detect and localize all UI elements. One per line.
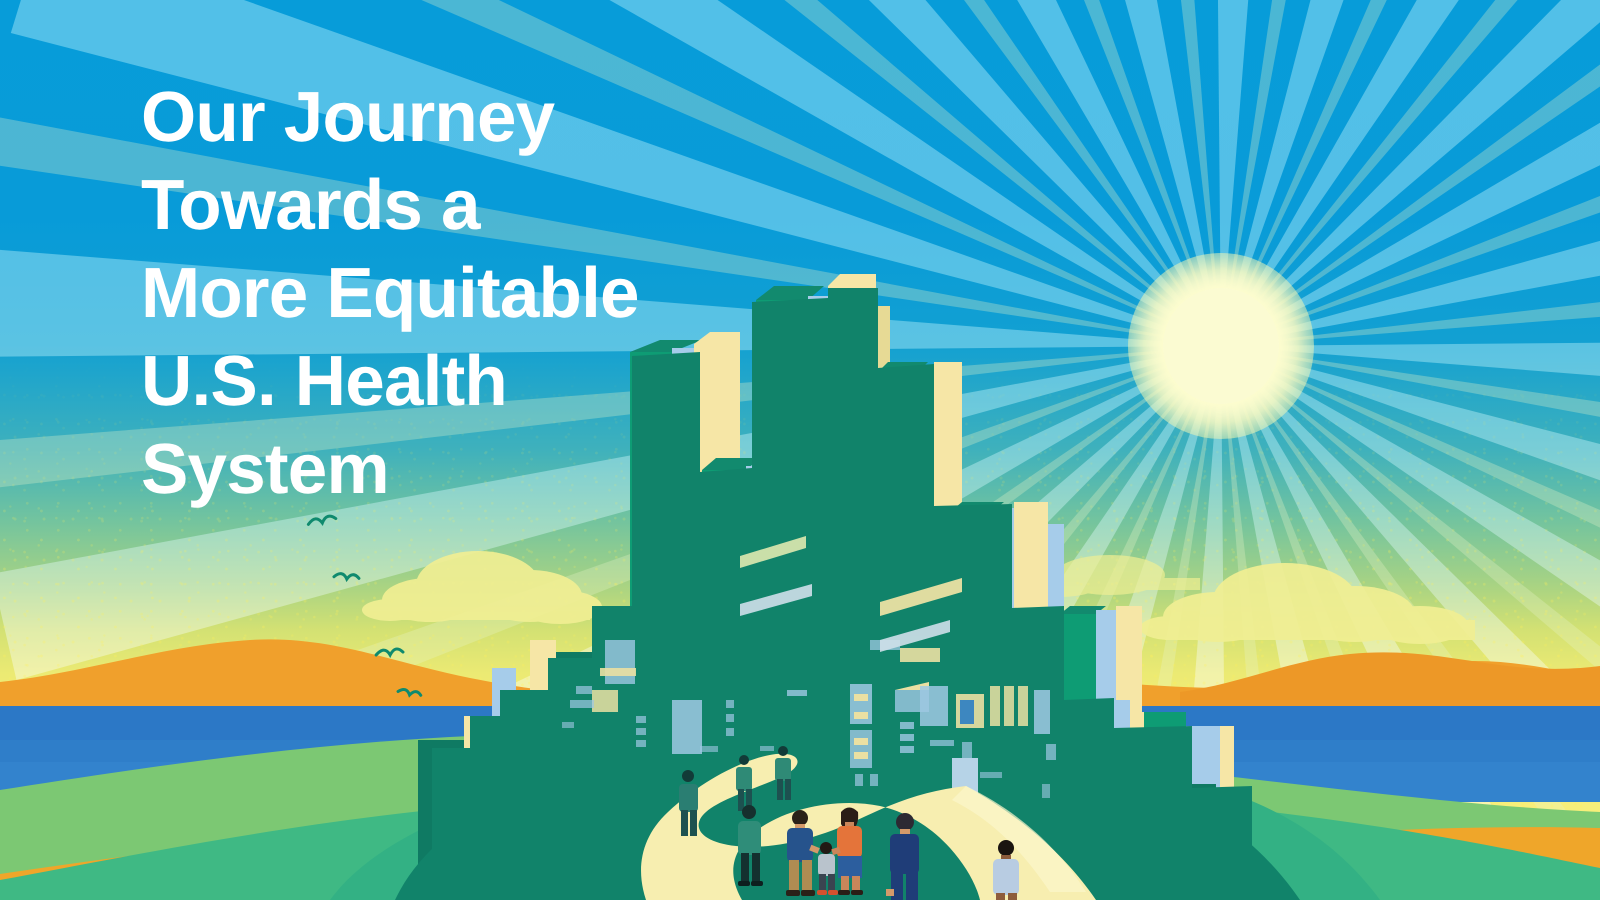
bird-icon — [376, 649, 403, 656]
bird-icon — [334, 573, 359, 581]
bird-icon — [308, 515, 337, 525]
poster-illustration: Our Journey Towards a More Equitable U.S… — [0, 0, 1600, 900]
page-title: Our Journey Towards a More Equitable U.S… — [141, 74, 841, 514]
sun-icon — [1163, 288, 1279, 404]
